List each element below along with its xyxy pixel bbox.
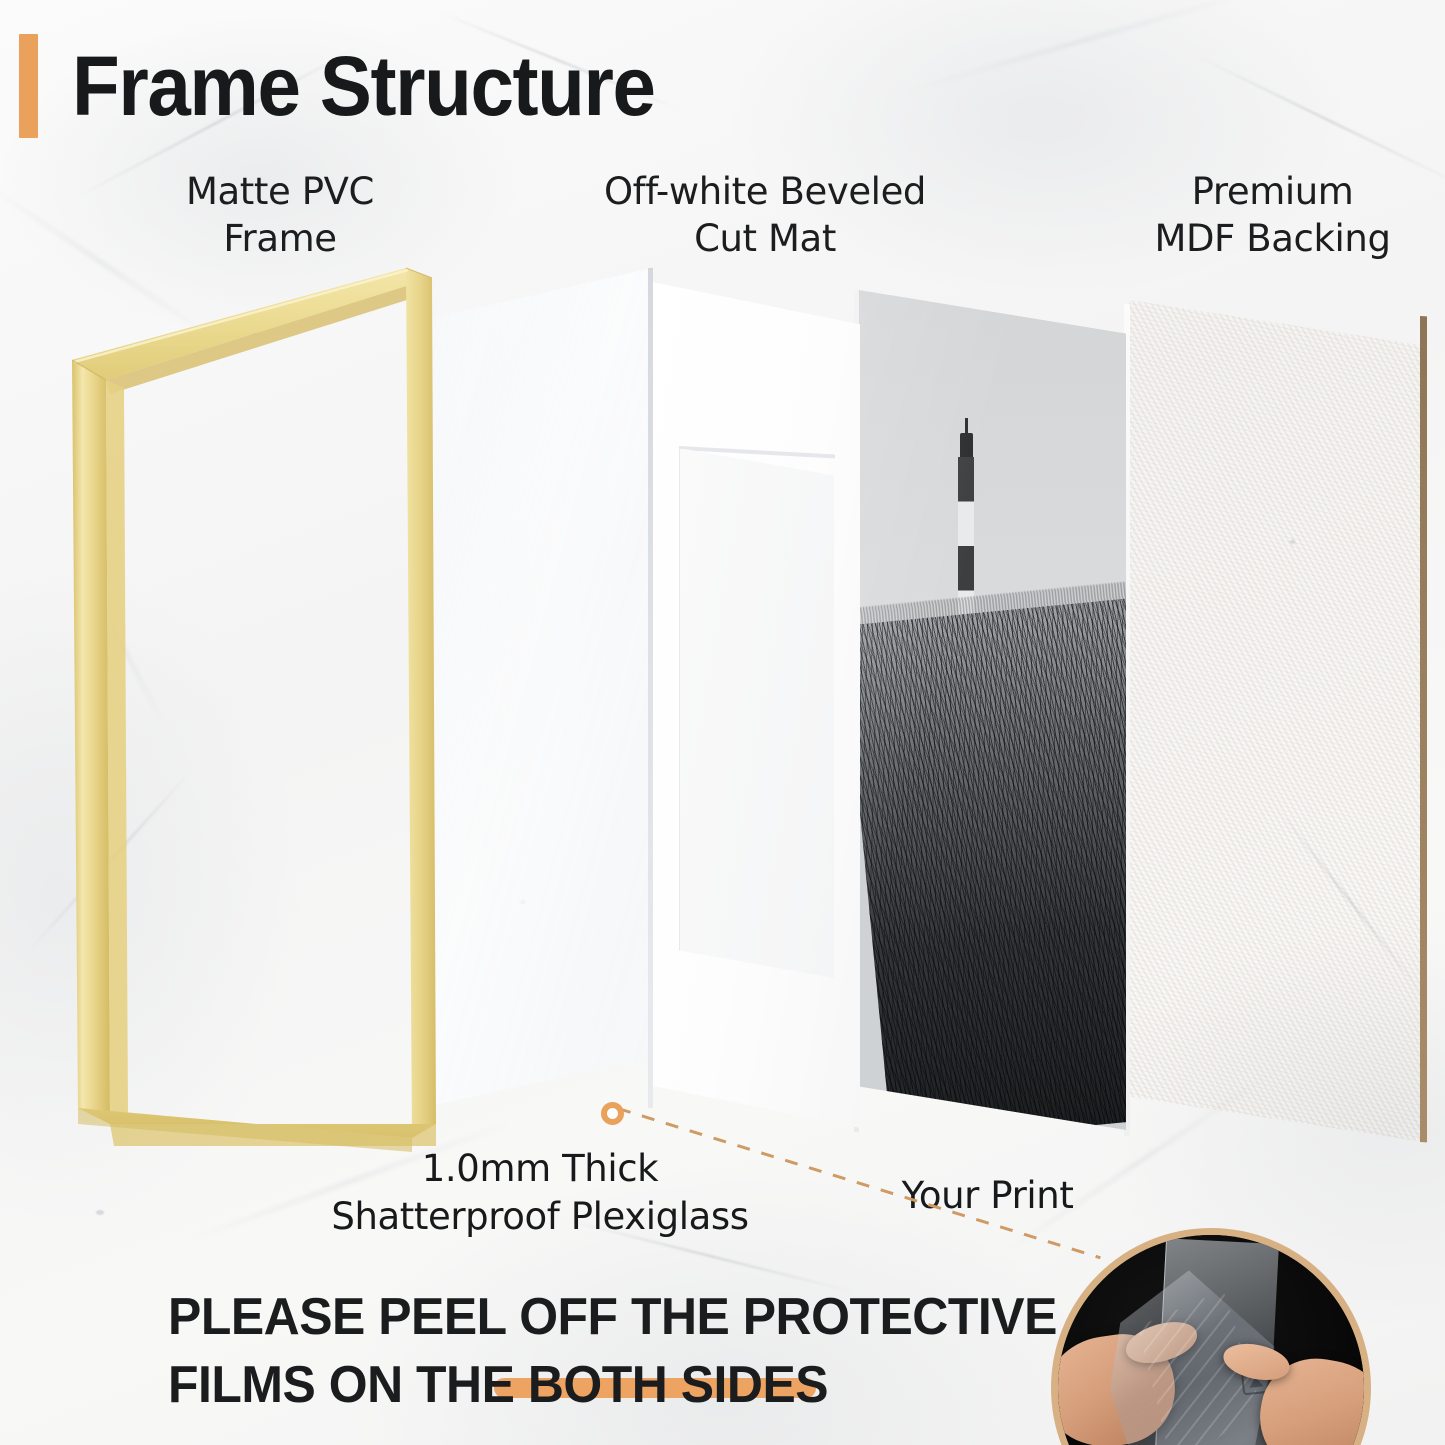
warning-line: PLEASE PEEL OFF THE PROTECTIVE — [168, 1283, 1057, 1351]
plexiglass-edge — [648, 268, 653, 1108]
mdf-grain-texture — [1129, 300, 1424, 1142]
mdf-edge — [1420, 316, 1427, 1142]
warning-line: FILMS ON THE BOTH SIDES — [168, 1351, 1057, 1419]
layer-gold-frame — [72, 262, 452, 1152]
print-sheen — [858, 290, 1126, 1130]
print-image — [858, 290, 1126, 1130]
peel-film-inset-photo — [1051, 1228, 1371, 1445]
infographic-canvas: Frame Structure Matte PVC Frame Off-whit… — [0, 0, 1445, 1445]
label-plexiglass: 1.0mm Thick Shatterproof Plexiglass — [275, 1145, 805, 1241]
callout-marker-dot — [601, 1102, 624, 1125]
layer-print-photo — [858, 290, 1126, 1130]
layer-plexiglass — [430, 268, 652, 1106]
warning-text: PLEASE PEEL OFF THE PROTECTIVE FILMS ON … — [168, 1283, 1057, 1419]
mat-aperture — [679, 448, 834, 978]
label-line: Shatterproof Plexiglass — [275, 1193, 805, 1241]
label-line: 1.0mm Thick — [275, 1145, 805, 1193]
